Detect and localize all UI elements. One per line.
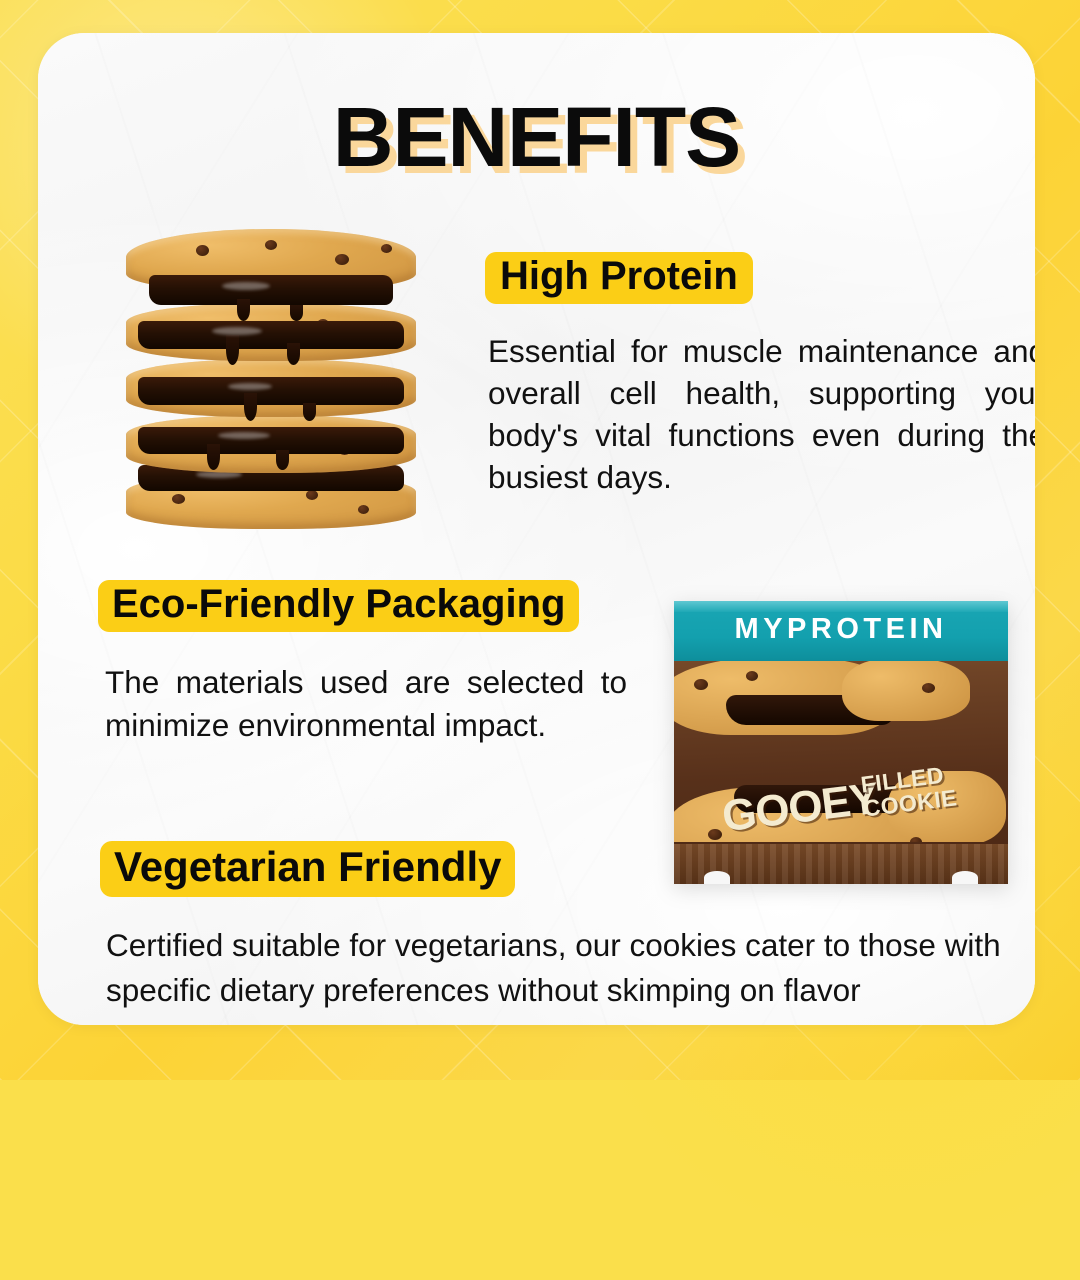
benefit-heading-eco-friendly-packaging: Eco-Friendly Packaging	[98, 580, 579, 632]
package-brand-logo: MYPROTEIN	[674, 613, 1008, 646]
myprotein-cookie-package-photo: GOOEY FILLED COOKIE 20G PROTEIN 0.9G SUG…	[674, 601, 1008, 884]
benefit-heading-high-protein: High Protein	[485, 252, 753, 304]
chocolate-filling	[138, 427, 405, 454]
package-notch-right	[952, 871, 978, 884]
chocolate-filling	[138, 321, 405, 349]
benefits-card: BENEFITS	[38, 33, 1035, 1025]
benefit-body-high-protein: Essential for muscle maintenance and ove…	[488, 331, 1035, 499]
package-teal-band: MYPROTEIN	[674, 601, 1008, 661]
package-cookie-artwork: GOOEY FILLED COOKIE 20G PROTEIN 0.9G SUG…	[674, 661, 1008, 842]
package-notch-left	[704, 871, 730, 884]
cookie-stack-photo	[126, 229, 416, 529]
package-top-seal-edge	[674, 601, 1008, 612]
chocolate-filling	[138, 377, 405, 405]
benefit-heading-vegetarian-friendly: Vegetarian Friendly	[100, 841, 515, 897]
benefit-body-vegetarian-friendly: Certified suitable for vegetarians, our …	[106, 923, 1035, 1012]
benefit-body-eco-friendly-packaging: The materials used are selected to minim…	[105, 661, 627, 746]
package-product-name-filled-cookie: FILLED COOKIE	[859, 761, 958, 820]
page-title: BENEFITS	[38, 95, 1035, 179]
chocolate-filling	[149, 275, 393, 305]
